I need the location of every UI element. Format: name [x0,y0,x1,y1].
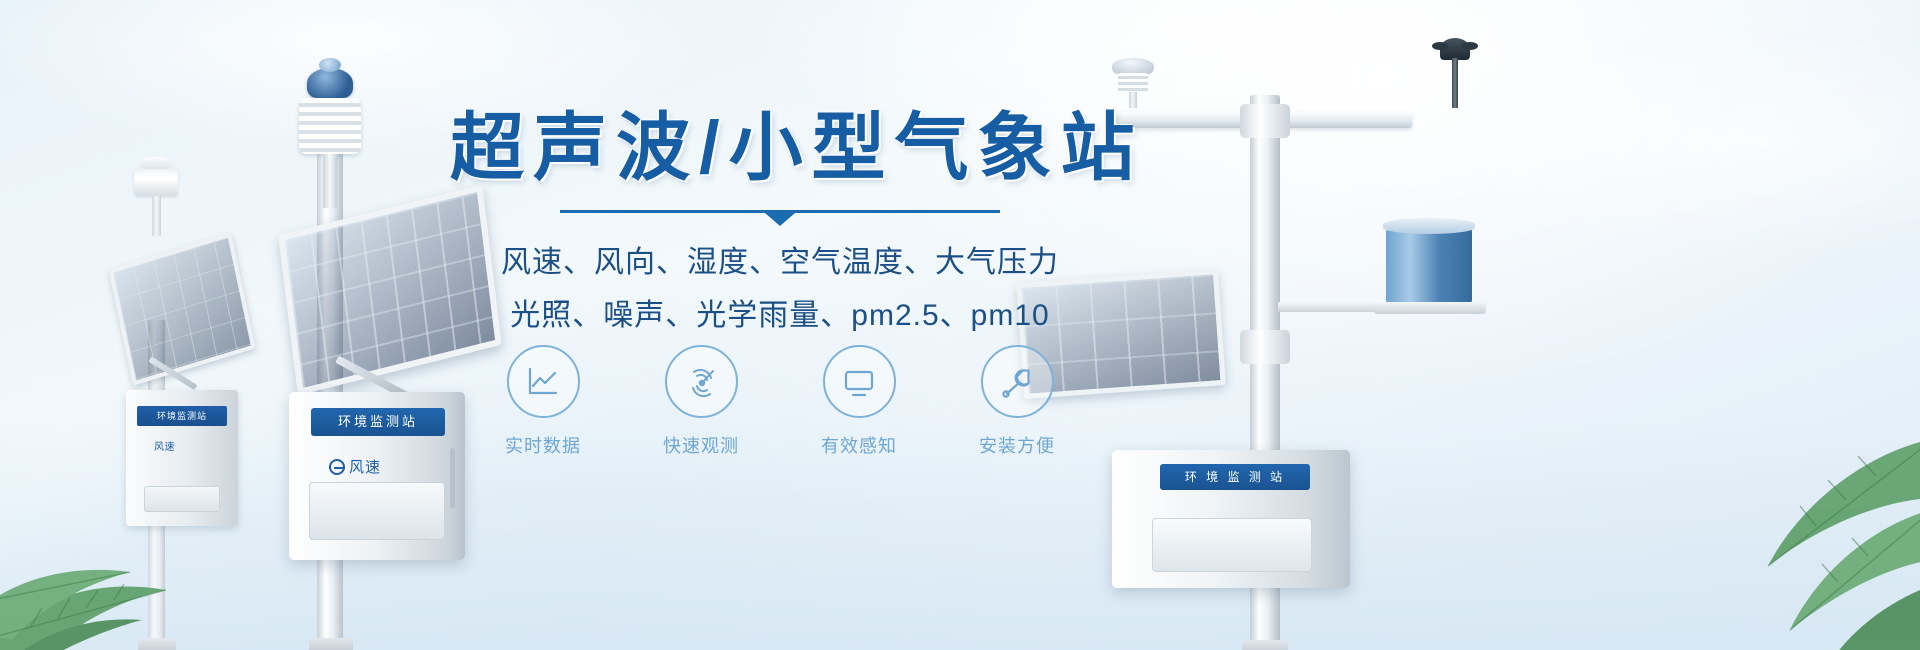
wind-vane-icon [1432,38,1478,114]
sensor-stem [152,196,161,236]
cabinet-door [309,482,445,540]
feature-label: 有效感知 [799,432,919,458]
feature-item-realtime-data[interactable]: 实时数据 [483,345,603,458]
weather-station-right: 环 境 监 测 站 [1090,30,1490,650]
ultrasonic-sensor-icon [1108,58,1158,102]
control-box: 环境监测站 风速 [126,390,238,526]
rain-gauge-rim [1383,218,1475,234]
banana-leaf-right-decoration [1630,380,1920,650]
rain-gauge-arm [1278,302,1386,312]
ultrasonic-cap [1112,58,1154,74]
brand-logo-text: 风速 [349,456,381,477]
feature-label: 实时数据 [483,432,603,458]
feature-item-easy-installation[interactable]: 安装方便 [957,345,1077,458]
feature-item-effective-sensing[interactable]: 有效感知 [799,345,919,458]
brand-mark-icon [329,459,345,475]
cabinet-nameplate-text: 环境监测站 [311,408,445,436]
feature-icon-circle [823,345,896,418]
sensor-stem [323,154,337,208]
control-box-nameplate: 环境监测站 [137,406,227,426]
weather-station-left-small: 环境监测站 风速 [110,140,260,650]
cabinet-nameplate: 环境监测站 [311,408,445,436]
ultrasonic-body [1118,73,1148,93]
feature-icon-circle [507,345,580,418]
rain-gauge-cylinder [1386,226,1472,304]
radiation-shield [299,98,361,154]
wind-vane-rod [1452,58,1458,108]
title-divider-with-triangle [560,210,1000,213]
equipment-cabinet: 环境监测站 风速 [289,392,465,560]
feature-icon-circle [981,345,1054,418]
mast-collar-lower [1240,330,1290,364]
feature-icon-circle [665,345,738,418]
wrench-icon [997,362,1037,402]
brand-logo-small: 风速 [154,438,175,453]
brand-logo-large: 风速 [329,456,381,477]
line-chart-icon [523,362,563,402]
solar-panel [108,232,255,385]
monitor-icon [839,362,879,402]
banner-text-block: 超声波/小型气象站 风速、风向、湿度、空气温度、大气压力 光照、噪声、光学雨量、… [450,108,1110,340]
subtitle-line-2: 光照、噪声、光学雨量、pm2.5、pm10 [450,292,1110,341]
equipment-cabinet: 环 境 监 测 站 [1112,450,1350,588]
feature-list: 实时数据 快速观测 有效感知 [450,345,1110,458]
subtitle-line-1: 风速、风向、湿度、空气温度、大气压力 [450,239,1110,288]
sensor-head-icon [134,166,178,196]
product-banner: 环境监测站 风速 环境监测站 风速 [0,0,1920,650]
headline-part-2: 小型气象站 [729,106,1144,189]
mast-base [309,638,353,650]
anemometer-cups [1440,38,1470,60]
mast-base [1242,640,1288,650]
cabinet-door [1152,518,1312,572]
feature-item-fast-observation[interactable]: 快速观测 [641,345,761,458]
rain-gauge-icon [1386,218,1472,314]
cabinet-nameplate: 环 境 监 测 站 [1160,464,1310,490]
rain-gauge-shelf [1374,302,1486,314]
page-title: 超声波/小型气象站 [450,108,1110,188]
feature-label: 安装方便 [957,432,1077,458]
control-box-vent [144,486,220,512]
mast-collar-upper [1240,104,1290,138]
dome-sensor-icon [307,68,353,98]
radar-observation-icon [681,362,721,402]
mast-base [138,638,176,650]
headline-separator: / [699,106,729,189]
headline-part-1: 超声波 [450,106,699,189]
control-box-nameplate-text: 环境监测站 [137,406,227,426]
cabinet-nameplate-text: 环 境 监 测 站 [1160,464,1310,490]
feature-label: 快速观测 [641,432,761,458]
